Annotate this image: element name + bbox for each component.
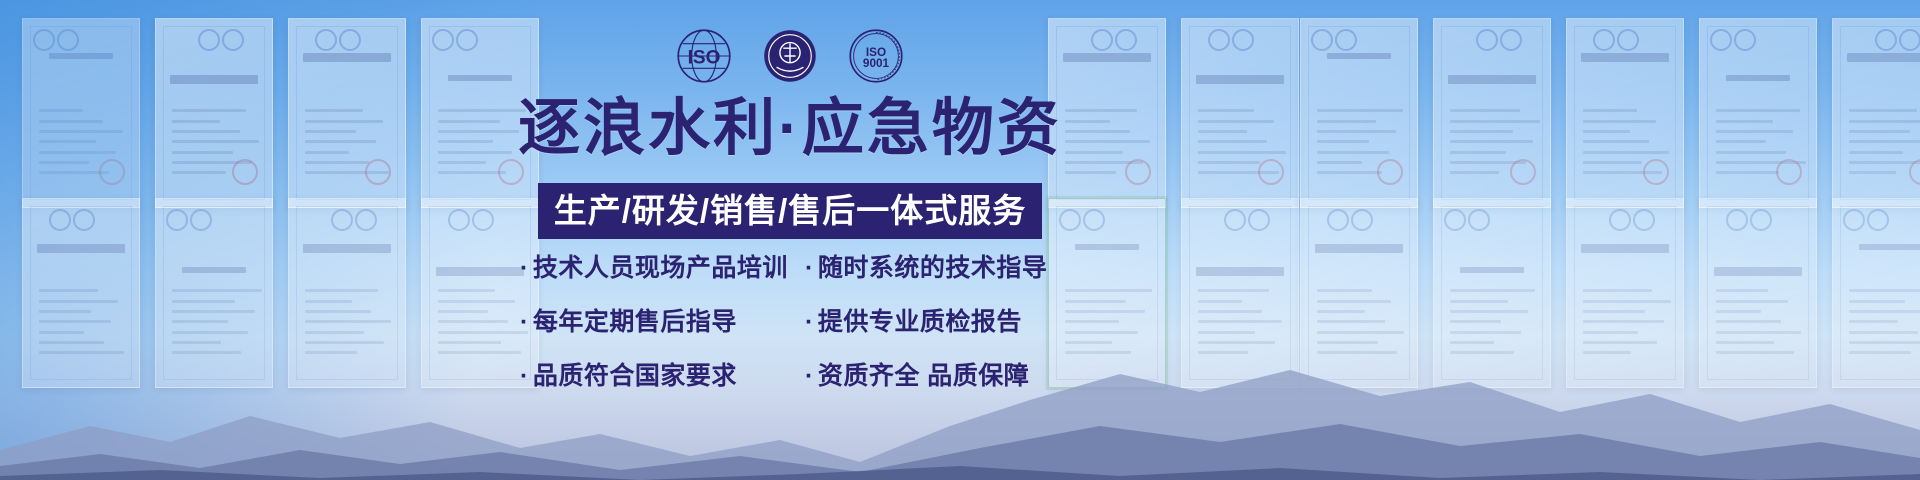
bullet-dot-icon: · — [805, 362, 814, 390]
certificate-thumbnail — [1699, 18, 1817, 208]
list-item-label: 提供专业质检报告 — [818, 308, 1022, 336]
ccc-certification-seal — [762, 28, 818, 84]
list-item-label: 资质齐全 品质保障 — [818, 362, 1029, 390]
list-item: ·资质齐全 品质保障 — [805, 356, 1060, 392]
banner-content: ISO ISO 9001 逐浪水利·应急物资 生产/研发/销售/售后一体式服务 — [480, 0, 1100, 480]
list-item: ·技术人员现场产品培训 — [520, 248, 805, 284]
certificate-thumbnail — [1566, 18, 1684, 208]
certificate-thumbnail — [1300, 18, 1418, 208]
subtitle-bar: 生产/研发/销售/售后一体式服务 — [480, 183, 1100, 239]
list-item-label: 每年定期售后指导 — [533, 308, 737, 336]
subtitle-text: 生产/研发/销售/售后一体式服务 — [538, 183, 1043, 239]
bullet-dot-icon: · — [805, 254, 814, 282]
list-item: ·提供专业质检报告 — [805, 302, 1060, 338]
certificate-thumbnail — [288, 18, 406, 208]
bullet-dot-icon: · — [520, 362, 529, 390]
list-item-label: 品质符合国家要求 — [533, 362, 737, 390]
bullet-dot-icon: · — [520, 254, 529, 282]
svg-text:ISO: ISO — [688, 47, 721, 68]
bullet-dot-icon: · — [805, 308, 814, 336]
list-item: ·每年定期售后指导 — [520, 302, 805, 338]
feature-list: ·技术人员现场产品培训 ·随时系统的技术指导 ·每年定期售后指导 ·提供专业质检… — [480, 248, 1100, 392]
list-item-label: 技术人员现场产品培训 — [533, 254, 788, 282]
list-item: ·随时系统的技术指导 — [805, 248, 1060, 284]
certification-logos: ISO ISO 9001 — [480, 28, 1100, 84]
certificate-thumbnail — [1433, 18, 1551, 208]
page-title: 逐浪水利·应急物资 — [470, 98, 1110, 160]
list-item: ·品质符合国家要求 — [520, 356, 805, 392]
certificate-thumbnail — [155, 18, 273, 208]
list-item-label: 随时系统的技术指导 — [818, 254, 1048, 282]
certificate-thumbnail — [1181, 18, 1299, 208]
promo-banner: ISO ISO 9001 逐浪水利·应急物资 生产/研发/销售/售后一体式服务 — [0, 0, 1920, 480]
iso-9001-logo: ISO 9001 — [848, 28, 904, 84]
iso-logo: ISO — [676, 28, 732, 84]
certificate-thumbnail — [22, 18, 140, 208]
svg-text:9001: 9001 — [863, 57, 890, 70]
bullet-dot-icon: · — [520, 308, 529, 336]
certificate-thumbnail — [1832, 18, 1920, 208]
